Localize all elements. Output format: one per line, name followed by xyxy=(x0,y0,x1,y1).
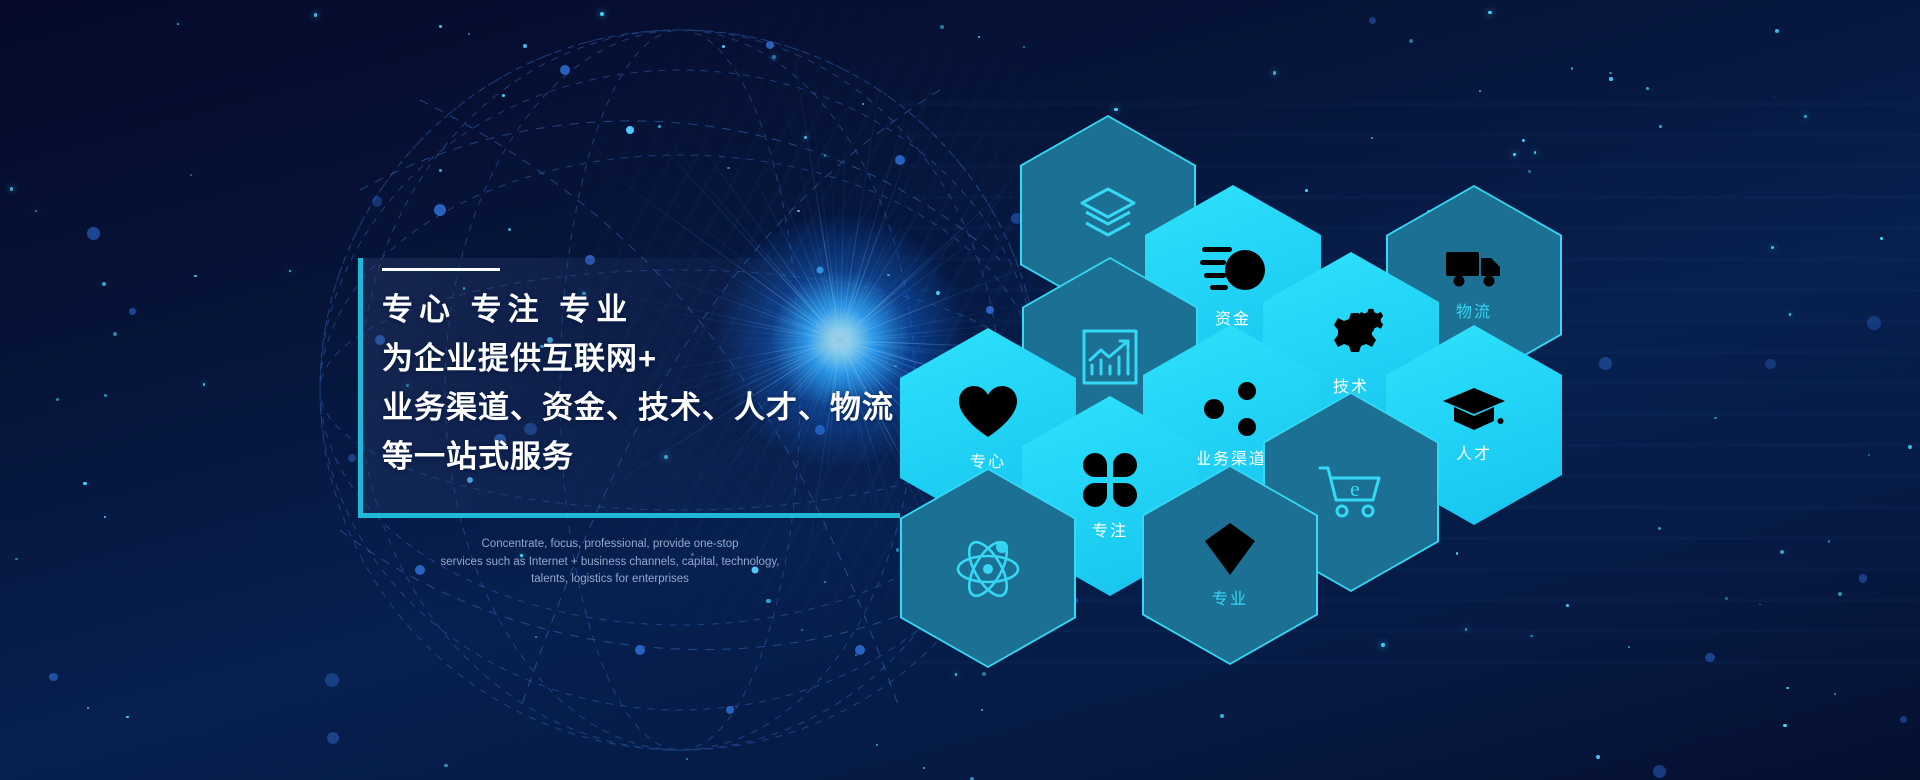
svg-text:e: e xyxy=(1350,476,1360,501)
atom-icon xyxy=(955,537,1021,599)
hexagon-content xyxy=(900,468,1076,668)
money-yen-icon xyxy=(1200,241,1266,297)
banner-canvas: 专心 专注 专业 为企业提供互联网+ 业务渠道、资金、技术、人才、物流 等一站式… xyxy=(0,0,1920,780)
gears-icon xyxy=(1318,307,1384,365)
heart-icon xyxy=(957,384,1019,440)
graduation-cap-icon xyxy=(1441,386,1507,432)
hexagon-label: 物流 xyxy=(1456,298,1492,322)
hexagon-content: 专业 xyxy=(1142,465,1318,665)
layers-icon xyxy=(1077,185,1139,245)
ecommerce-cart-icon: e xyxy=(1317,464,1385,520)
bar-chart-up-icon xyxy=(1081,328,1139,386)
hexagon-label: 人才 xyxy=(1456,440,1492,464)
hexagon-label: 专业 xyxy=(1212,585,1248,609)
diamond-icon xyxy=(1203,521,1257,577)
hexagon-label: 专注 xyxy=(1092,517,1128,541)
clover-icon xyxy=(1081,451,1139,509)
share-nodes-icon xyxy=(1202,381,1260,437)
truck-icon xyxy=(1445,248,1503,290)
hexagon-cluster: 资金 物流 技术 人才 专心 xyxy=(0,0,1920,780)
